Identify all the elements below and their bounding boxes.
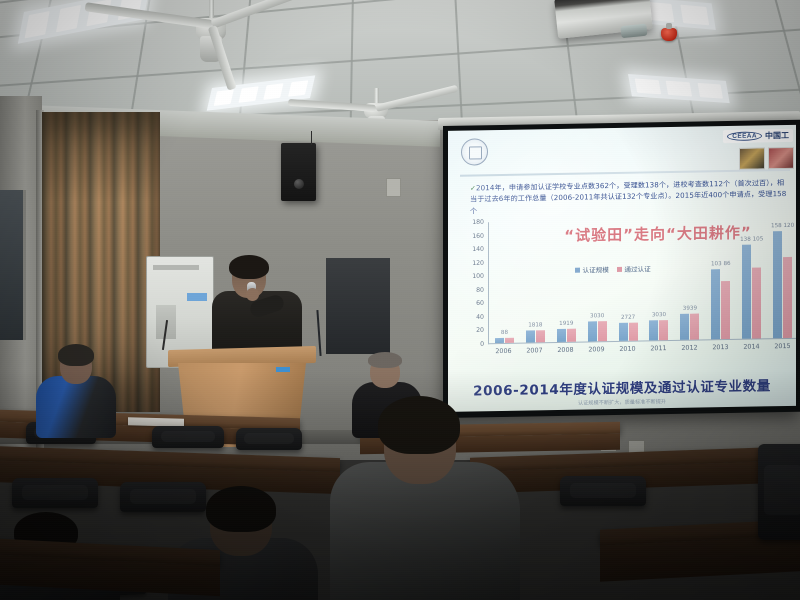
x-tick-label: 2010 [612,345,643,354]
bar-group: 2727 [613,219,644,341]
y-tick-label: 180 [472,219,484,226]
ceeaa-badge: CEEAA 中国工 [723,129,793,143]
loudspeaker-icon [281,143,316,201]
x-tick-label: 2009 [581,345,612,354]
bar-value-label: 3030 [644,312,675,319]
bar-group: 158 120 [767,217,796,339]
presentation-slide: CEEAA 中国工 ✓2014年，申请参加认证学校专业点数362个，受理数138… [448,125,796,412]
ceiling-fan [196,0,226,66]
bar-series-2 [629,322,638,340]
bar-series-1 [742,245,751,339]
bar-value-label: 158 120 [767,223,796,230]
bar-value-label: 3030 [582,313,613,320]
bar-group: 3030 [582,220,613,342]
bar-value-label: 2727 [613,314,644,321]
chart-bars: 88181819193030272730303939103 86138 1051… [489,217,796,343]
bar-series-2 [659,320,668,340]
equipment-rack [326,258,390,354]
bar-group: 3030 [644,219,675,341]
y-tick-label: 80 [476,287,484,294]
bar-series-1 [680,313,689,340]
bar-series-1 [773,231,782,338]
bar-value-label: 88 [489,329,520,336]
bar-group: 138 105 [736,217,767,339]
y-tick-label: 60 [476,300,484,307]
y-tick-label: 40 [476,314,484,321]
bar-series-2 [721,281,730,339]
x-tick-label: 2008 [550,346,581,355]
lecture-room-photo: CEEAA 中国工 ✓2014年，申请参加认证学校专业点数362个，受理数138… [0,0,800,600]
x-tick-label: 2014 [736,342,767,351]
bar-series-1 [711,269,720,339]
chair [560,476,646,506]
bar-value-label: 1818 [520,322,551,329]
chair [152,426,224,448]
cabinet-label [187,293,207,301]
audience-member [36,342,116,434]
chair [12,478,98,508]
thumbnail-image [739,147,765,169]
y-tick-label: 0 [480,341,484,348]
presenter-hand [246,288,259,301]
speaker-driver [294,179,304,189]
slide-bullet-text: ✓2014年，申请参加认证学校专业点数362个，受理数138个，进校考查数112… [470,177,788,217]
bar-group: 103 86 [705,218,736,340]
bullet-body: 2014年，申请参加认证学校专业点数362个，受理数138个，进校考查数112个… [470,178,786,215]
presenter [214,258,300,358]
bar-value-label: 3939 [674,305,705,312]
speaker-cable [311,131,312,145]
person-hair [58,344,94,366]
x-tick-label: 2007 [519,346,550,355]
bar-value-label: 103 86 [705,261,736,268]
person-body [36,376,116,438]
chart-y-axis-labels: 020406080100120140160180 [462,222,486,344]
y-tick-label: 100 [472,273,484,280]
projector-icon [554,0,653,39]
person-hair [206,486,276,532]
bar-group: 1919 [551,221,582,343]
projection-screen: CEEAA 中国工 ✓2014年，申请参加认证学校专业点数362个，受理数138… [443,120,800,418]
bar-series-2 [690,313,699,340]
wall-outlet [386,178,401,197]
y-tick-label: 20 [476,327,484,334]
person-hair [368,352,402,368]
x-tick-label: 2006 [488,347,519,356]
bar-group: 1818 [520,221,551,343]
bar-series-1 [526,330,535,342]
podium-sticker [276,367,290,372]
y-tick-label: 160 [472,232,484,239]
chair [758,444,800,540]
bar-series-2 [598,321,607,341]
thumbnail-image [768,147,794,169]
x-tick-label: 2012 [674,343,705,352]
bar-series-1 [619,322,628,340]
bar-series-2 [567,329,576,342]
bar-value-label: 1919 [551,321,582,328]
x-tick-label: 2015 [767,342,796,351]
presenter-hair [229,255,269,279]
x-tick-label: 2011 [643,344,674,353]
window [0,190,26,340]
bar-series-2 [536,330,545,342]
bar-group: 3939 [674,218,705,340]
bar-group: 88 [489,222,520,344]
x-tick-label: 2013 [705,343,736,352]
y-tick-label: 120 [472,259,484,266]
bar-chart: 020406080100120140160180 认证规模 通过认证 88181… [462,217,796,375]
chart-plot-area: 认证规模 通过认证 88181819193030272730303939103 … [488,217,796,344]
bar-value-label: 138 105 [736,237,767,244]
person-hair [378,396,460,454]
y-tick-label: 140 [472,246,484,253]
slide-thumbnail-images [739,147,794,170]
bar-series-1 [588,321,597,341]
bar-series-1 [495,338,504,344]
bar-series-2 [505,337,514,343]
ceeaa-org-name: 中国工 [765,130,789,141]
chair [236,428,302,450]
fire-sprinkler-icon [661,28,677,41]
bar-series-1 [557,329,566,342]
bar-series-1 [649,320,658,340]
bar-series-2 [783,257,792,338]
cabinet-handle [153,265,199,270]
chart-x-axis-labels: 2006200720082009201020112012201320142015 [488,342,796,355]
bar-series-2 [752,267,761,338]
ceeaa-acronym: CEEAA [727,131,762,141]
audience-member [330,396,520,600]
